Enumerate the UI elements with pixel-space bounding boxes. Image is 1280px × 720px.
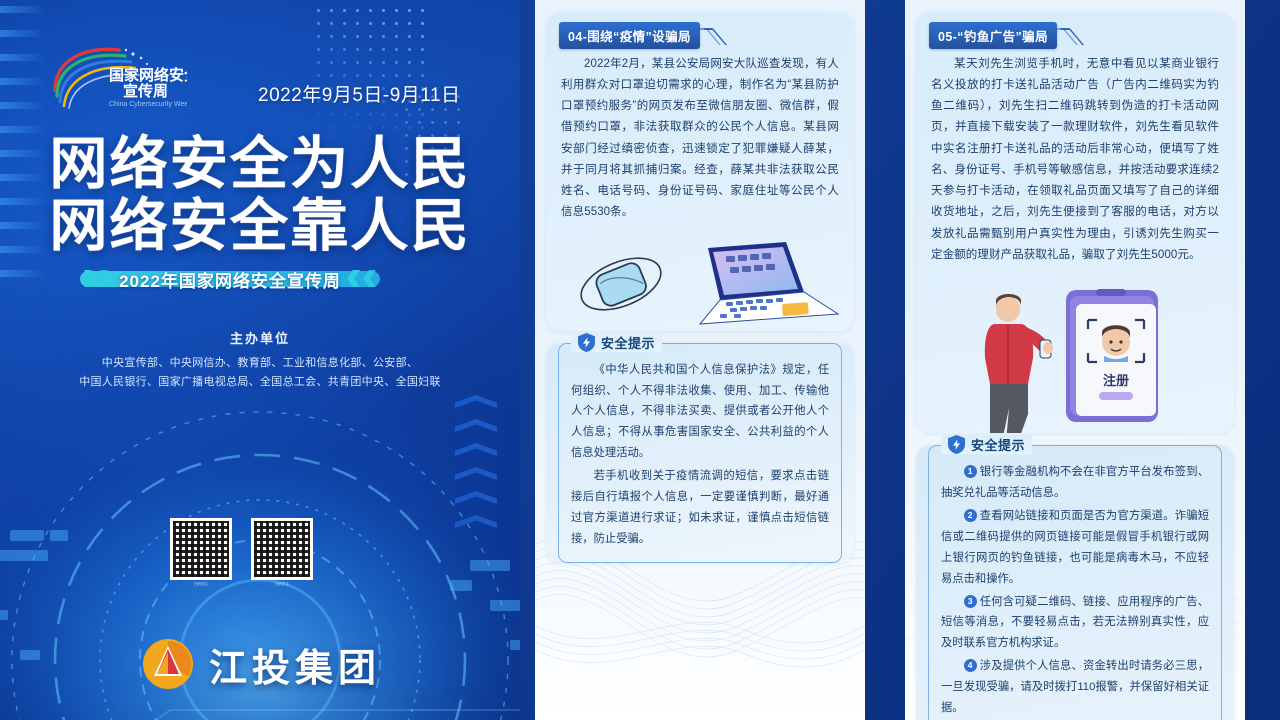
story-card-04: 04-围绕“疫情”设骗局 2022年2月，某县公安局网安大队巡查发现，有人利用群… — [546, 12, 854, 331]
story-card-05: 05-“钓鱼广告”骗局 某天刘先生浏览手机时，无意中看见以某商业银行名义投放的打… — [916, 12, 1234, 433]
story-badge-label-05: 05-“钓鱼广告”骗局 — [929, 22, 1057, 49]
double-chevron-icon — [704, 27, 719, 44]
china-cybersecurity-week-logo: 国家网络安全 宣传周 China Cybersecurity Week — [47, 42, 187, 112]
left-poster-panel: 国家网络安全 宣传周 China Cybersecurity Week 2022… — [0, 0, 520, 720]
tips-item-text: 任何含可疑二维码、链接、应用程序的广告、短信等消息，不要轻易点击，若无法辨别真实… — [941, 596, 1209, 650]
qr-caption-left: 扫码关注 — [170, 582, 232, 587]
poster-stage: 国家网络安全 宣传周 China Cybersecurity Week 2022… — [0, 0, 1280, 720]
tips-item-number: 2 — [964, 509, 977, 522]
organizer-line-1: 中央宣传部、中央网信办、教育部、工业和信息化部、公安部、 — [0, 354, 520, 373]
qr-code-right[interactable] — [251, 518, 313, 580]
middle-column-page: 04-围绕“疫情”设骗局 2022年2月，某县公安局网安大队巡查发现，有人利用群… — [535, 0, 865, 720]
svg-text:国家网络安全: 国家网络安全 — [109, 66, 187, 84]
story-badge-05: 05-“钓鱼广告”骗局 — [929, 22, 1076, 49]
tips-list-item: 4涉及提供个人信息、资金转出时请务必三思，一旦发现受骗，请及时拨打110报警，并… — [941, 656, 1209, 719]
shield-lightning-icon — [578, 333, 595, 352]
tips-box-right: 安全提示 1银行等金融机构不会在非官方平台发布签到、抽奖兑礼品等活动信息。 2查… — [928, 445, 1222, 720]
sponsor-brand: 江投集团 — [140, 636, 381, 692]
tips-item-text: 查看网站链接和页面是否为官方渠道。诈骗短信或二维码提供的网页链接可能是假冒手机银… — [941, 510, 1209, 585]
tips-paragraph-2: 若手机收到关于疫情流调的短信，要求点击链接后自行填报个人信息，一定要谨慎判断，最… — [571, 466, 829, 550]
organizer-block: 主办单位 中央宣传部、中央网信办、教育部、工业和信息化部、公安部、 中国人民银行… — [0, 328, 520, 393]
tips-list-item: 3任何含可疑二维码、链接、应用程序的广告、短信等消息，不要轻易点击，若无法辨别真… — [941, 592, 1209, 655]
middle-column: 04-围绕“疫情”设骗局 2022年2月，某县公安局网安大队巡查发现，有人利用群… — [535, 0, 865, 720]
headline-line-1: 网络安全为人民 — [0, 134, 520, 196]
tips-title-right: 安全提示 — [971, 435, 1025, 454]
qr-code-left[interactable] — [170, 518, 232, 580]
svg-text:宣传周: 宣传周 — [123, 82, 168, 100]
svg-text:注册: 注册 — [1103, 373, 1129, 388]
story-badge-04: 04-围绕“疫情”设骗局 — [559, 22, 719, 49]
poster-date-range: 2022年9月5日-9月11日 — [258, 80, 461, 107]
tips-item-number: 3 — [964, 595, 977, 608]
story-badge-label-04: 04-围绕“疫情”设骗局 — [559, 22, 700, 49]
double-chevron-icon — [1061, 27, 1076, 44]
man-with-phone-register-illustration: 注册 — [916, 278, 1234, 433]
tips-item-text: 涉及提供个人信息、资金转出时请务必三思，一旦发现受骗，请及时拨打110报警，并保… — [941, 660, 1209, 714]
poster-headline: 网络安全为人民 网络安全靠人民 — [0, 134, 520, 257]
tips-list-item: 2查看网站链接和页面是否为官方渠道。诈骗短信或二维码提供的网页链接可能是假冒手机… — [941, 506, 1209, 590]
tips-card-middle: 安全提示 《中华人民共和国个人信息保护法》规定，任何组织、个人不得非法收集、使用… — [546, 343, 854, 563]
qr-captions: 扫码关注 扫码关注 — [170, 582, 315, 587]
poster-ribbon-banner: 2022年国家网络安全宣传周 — [60, 262, 400, 296]
tips-list-item: 1银行等金融机构不会在非官方平台发布签到、抽奖兑礼品等活动信息。 — [941, 462, 1209, 504]
qr-code-group — [170, 518, 313, 580]
right-column: 05-“钓鱼广告”骗局 某天刘先生浏览手机时，无意中看见以某商业银行名义投放的打… — [905, 0, 1245, 720]
brand-name: 江投集团 — [209, 637, 381, 692]
organizer-line-2: 中国人民银行、国家广播电视总局、全国总工会、共青团中央、全国妇联 — [0, 373, 520, 392]
mask-and-laptop-illustration — [546, 236, 854, 331]
tips-card-right: 安全提示 1银行等金融机构不会在非官方平台发布签到、抽奖兑礼品等活动信息。 2查… — [916, 445, 1234, 720]
story-body-04: 2022年2月，某县公安局网安大队巡查发现，有人利用群众对口罩迫切需求的心理，制… — [546, 51, 854, 236]
story-body-05: 某天刘先生浏览手机时，无意中看见以某商业银行名义投放的打卡送礼品活动广告（广告内… — [916, 51, 1234, 279]
shield-lightning-icon — [948, 435, 965, 454]
headline-line-2: 网络安全靠人民 — [0, 196, 520, 258]
tips-item-text: 银行等金融机构不会在非官方平台发布签到、抽奖兑礼品等活动信息。 — [941, 466, 1209, 499]
tips-item-number: 4 — [964, 659, 977, 672]
ribbon-text: 2022年国家网络安全宣传周 — [113, 267, 347, 292]
jiangtou-logo-icon — [140, 636, 196, 692]
tips-paragraph-1: 《中华人民共和国个人信息保护法》规定，任何组织、个人不得非法收集、使用、加工、传… — [571, 360, 829, 464]
tips-header-right: 安全提示 — [941, 435, 1032, 454]
tips-title-middle: 安全提示 — [601, 333, 655, 352]
organizer-title: 主办单位 — [0, 328, 520, 347]
tips-item-number: 1 — [964, 465, 977, 478]
qr-caption-right: 扫码关注 — [251, 582, 313, 587]
tips-box-middle: 安全提示 《中华人民共和国个人信息保护法》规定，任何组织、个人不得非法收集、使用… — [558, 343, 842, 563]
right-column-page: 05-“钓鱼广告”骗局 某天刘先生浏览手机时，无意中看见以某商业银行名义投放的打… — [905, 0, 1245, 720]
svg-text:China Cybersecurity Week: China Cybersecurity Week — [109, 101, 187, 108]
tips-header-middle: 安全提示 — [571, 333, 662, 352]
